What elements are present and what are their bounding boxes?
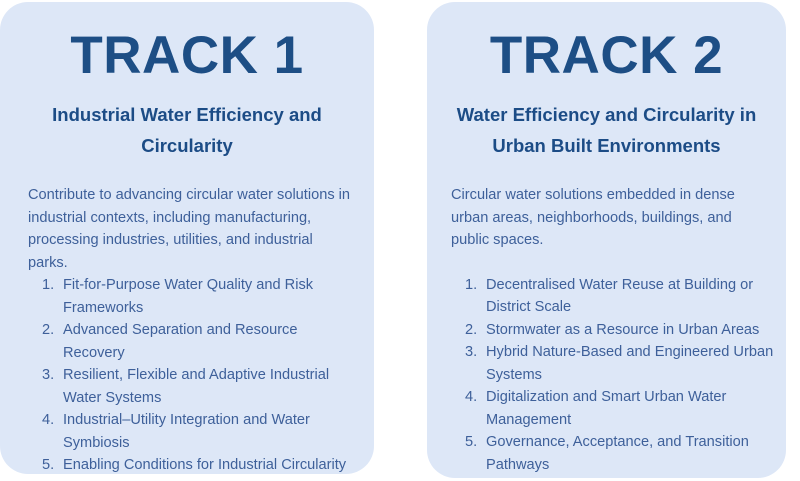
list-item: Enabling Conditions for Industrial Circu… [42,454,360,477]
track-2-title: TRACK 2 [427,2,786,82]
track-card-2: TRACK 2 Water Efficiency and Circularity… [427,2,786,478]
list-item: Stormwater as a Resource in Urban Areas [465,319,774,342]
track-1-topic-list: Fit-for-Purpose Water Quality and Risk F… [0,274,374,477]
tracks-board: TRACK 1 Industrial Water Efficiency and … [0,0,800,481]
list-item: Resilient, Flexible and Adaptive Industr… [42,364,360,409]
track-card-1: TRACK 1 Industrial Water Efficiency and … [0,2,374,474]
track-1-subtitle: Industrial Water Efficiency and Circular… [0,82,374,161]
list-item: Industrial–Utility Integration and Water… [42,409,360,454]
track-1-description: Contribute to advancing circular water s… [0,161,374,274]
list-item: Fit-for-Purpose Water Quality and Risk F… [42,274,360,319]
list-item: Governance, Acceptance, and Transition P… [465,431,774,476]
list-item: Decentralised Water Reuse at Building or… [465,274,774,319]
list-item: Digitalization and Smart Urban Water Man… [465,386,774,431]
track-2-description: Circular water solutions embedded in den… [427,161,786,252]
track-2-topic-list: Decentralised Water Reuse at Building or… [427,252,786,477]
track-2-subtitle: Water Efficiency and Circularity in Urba… [427,82,786,161]
list-item: Hybrid Nature-Based and Engineered Urban… [465,341,774,386]
track-1-title: TRACK 1 [0,2,374,82]
list-item: Advanced Separation and Resource Recover… [42,319,360,364]
